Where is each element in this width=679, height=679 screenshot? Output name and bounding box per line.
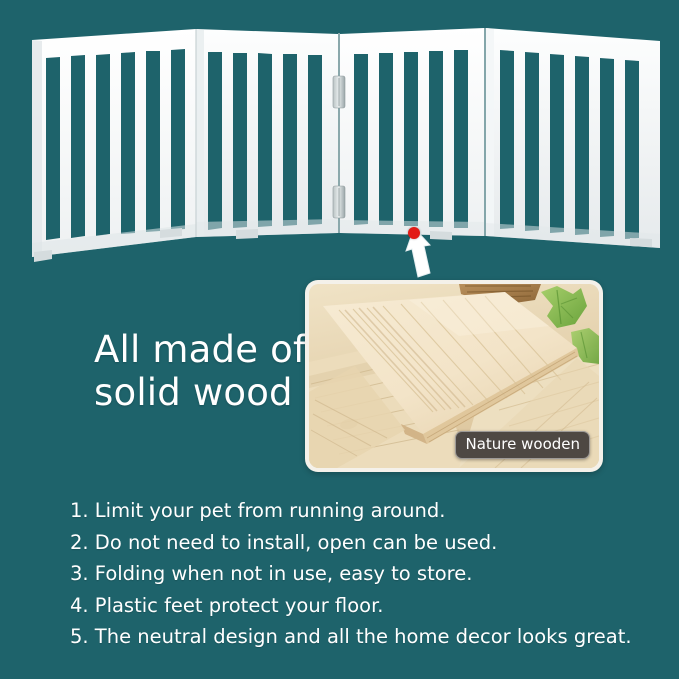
gate-panel-1: [32, 29, 196, 262]
list-item: 5. The neutral design and all the home d…: [70, 621, 670, 653]
feature-list: 1. Limit your pet from running around. 2…: [70, 495, 670, 653]
list-item: 3. Folding when not in use, easy to stor…: [70, 558, 670, 590]
gate-panel-4: [486, 28, 660, 248]
list-item: 2. Do not need to install, open can be u…: [70, 527, 670, 559]
gate-hinge-lower: [333, 186, 345, 218]
page-title: All made of solid wood: [94, 328, 309, 414]
gate-panel-3: [340, 28, 484, 240]
headline-line-2: solid wood: [94, 371, 309, 414]
callout-dot-icon: [408, 227, 420, 239]
status-badge: Nature wooden: [455, 431, 590, 459]
list-item: 4. Plastic feet protect your floor.: [70, 590, 670, 622]
wood-detail-photo: Nature wooden: [305, 280, 603, 472]
product-marketing-image: All made of solid wood: [0, 0, 679, 679]
gate-panel-2: [196, 29, 338, 239]
headline-line-1: All made of: [94, 328, 309, 371]
wood-detail-photo-inner: Nature wooden: [309, 284, 599, 468]
pet-gate-illustration: [0, 0, 679, 280]
list-item: 1. Limit your pet from running around.: [70, 495, 670, 527]
gate-hinge-upper: [333, 76, 345, 108]
